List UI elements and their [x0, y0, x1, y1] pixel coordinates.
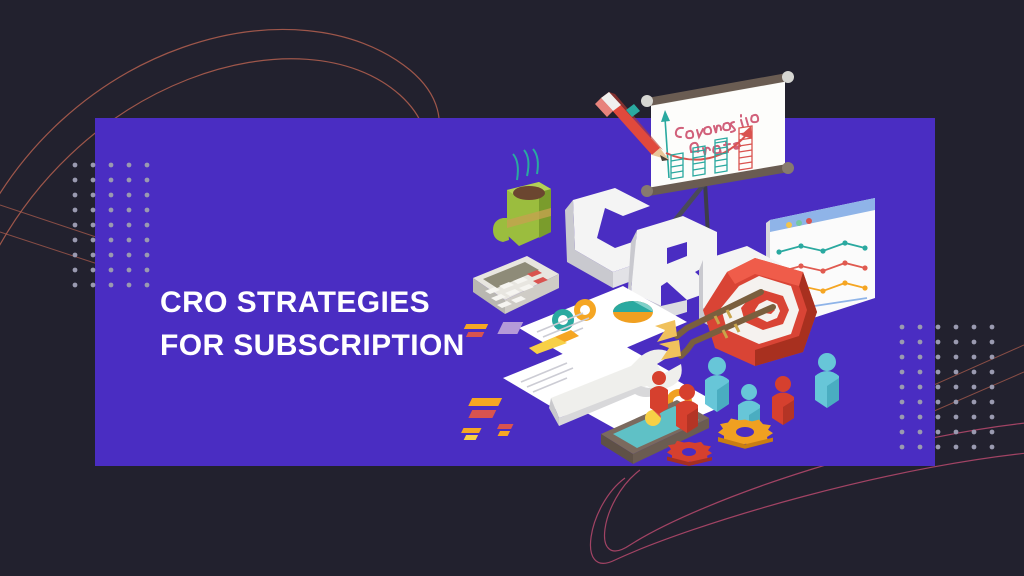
calculator-icon — [473, 256, 559, 314]
person-red-2 — [772, 376, 794, 425]
gear-orange — [718, 419, 773, 449]
page-title: CRO STRATEGIES FOR SUBSCRIPTION — [160, 282, 465, 367]
cro-isometric-illustration — [455, 60, 925, 480]
person-red-3 — [650, 371, 668, 414]
person-red-1 — [676, 384, 698, 433]
slide-canvas: CRO STRATEGIES FOR SUBSCRIPTION — [0, 0, 1024, 576]
coffee-mug-icon — [493, 149, 551, 246]
person-teal-3 — [815, 353, 839, 408]
person-teal — [705, 357, 729, 412]
dot-grid-left — [70, 160, 150, 290]
gear-red — [667, 441, 712, 466]
